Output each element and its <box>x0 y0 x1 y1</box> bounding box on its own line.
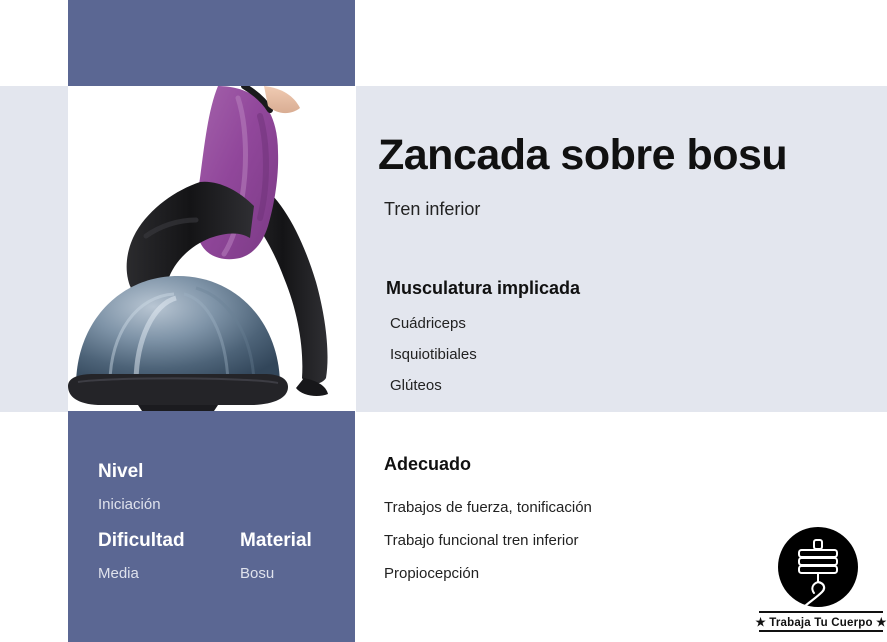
exercise-card: Zancada sobre bosu Tren inferior Muscula… <box>0 0 887 642</box>
brand-logo: ★ Trabaja Tu Cuerpo ★ <box>777 527 887 642</box>
list-item: Trabajos de fuerza, tonificación <box>384 491 592 524</box>
suitable-heading: Adecuado <box>384 454 471 475</box>
suitable-list: Trabajos de fuerza, tonificación Trabajo… <box>384 491 592 590</box>
level-label: Nivel <box>98 461 143 483</box>
page-subtitle: Tren inferior <box>384 199 480 220</box>
list-item: Cuádriceps <box>390 308 477 339</box>
level-value: Iniciación <box>98 496 161 513</box>
exercise-photo <box>68 86 355 411</box>
muscles-list: Cuádriceps Isquiotibiales Glúteos <box>390 308 477 401</box>
page-title: Zancada sobre bosu <box>378 131 787 180</box>
top-blue-band <box>68 0 355 86</box>
logo-tagline-block: ★ Trabaja Tu Cuerpo ★ <box>755 611 887 632</box>
logo-rule-bottom <box>759 630 883 632</box>
list-item: Propiocepción <box>384 557 592 590</box>
material-value: Bosu <box>240 565 274 582</box>
material-label: Material <box>240 530 312 552</box>
list-item: Isquiotibiales <box>390 339 477 370</box>
info-blue-panel <box>68 411 355 642</box>
difficulty-value: Media <box>98 565 139 582</box>
list-item: Glúteos <box>390 370 477 401</box>
difficulty-label: Dificultad <box>98 530 185 552</box>
list-item: Trabajo funcional tren inferior <box>384 524 592 557</box>
left-accent-strip <box>0 86 68 412</box>
muscles-heading: Musculatura implicada <box>386 278 580 299</box>
logo-tagline: ★ Trabaja Tu Cuerpo ★ <box>755 613 887 630</box>
barbell-plates-hand-icon <box>778 527 858 607</box>
